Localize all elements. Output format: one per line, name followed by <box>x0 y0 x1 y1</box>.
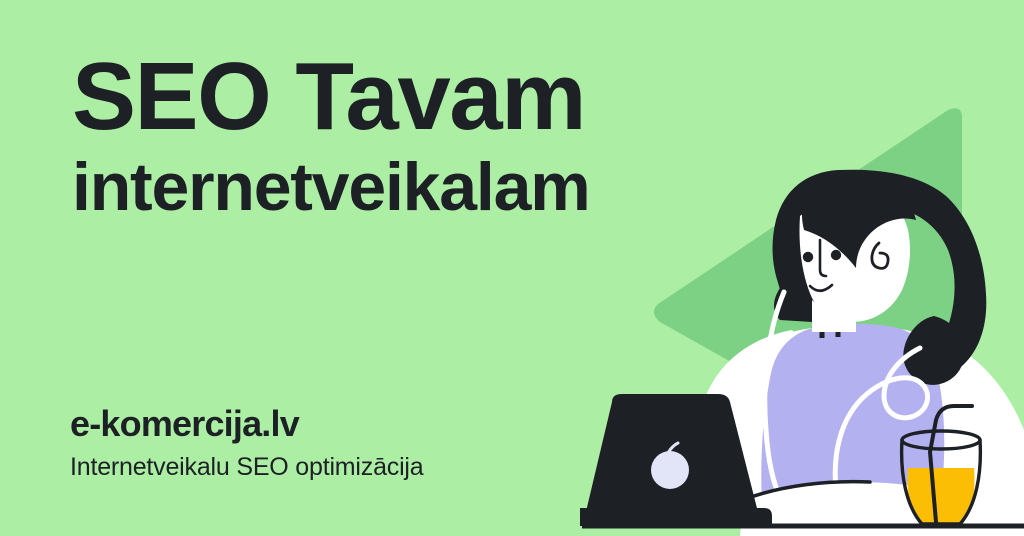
woman-eye-left <box>803 252 813 262</box>
headline-line-2: internetveikalam <box>72 152 692 223</box>
brand-name: e-komercija.lv <box>70 404 590 444</box>
laptop-logo <box>651 451 689 489</box>
laptop-base <box>580 508 772 526</box>
brand-tagline: Internetveikalu SEO optimizācija <box>70 453 590 482</box>
headline-line-1: SEO Tavam <box>72 48 692 146</box>
brand-block: e-komercija.lv Internetveikalu SEO optim… <box>70 404 590 481</box>
woman-eye-right <box>831 250 841 260</box>
headline-block: SEO Tavam internetveikalam <box>72 48 692 223</box>
seo-promo-banner: SEO Tavam internetveikalam e-komercija.l… <box>0 0 1024 536</box>
